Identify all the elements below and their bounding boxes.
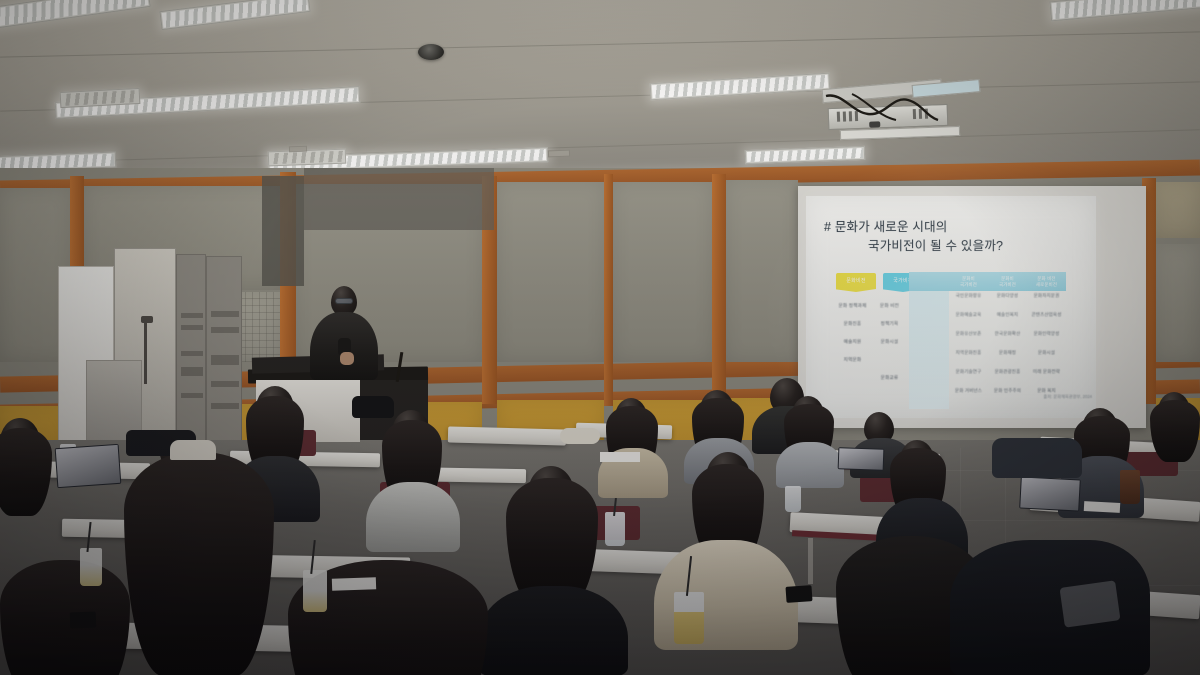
bag bbox=[352, 396, 394, 418]
presenter-glasses-icon bbox=[335, 298, 353, 304]
drink-cup bbox=[1120, 470, 1140, 504]
tab-yellow-label: 문화비전 bbox=[836, 273, 876, 284]
av-equipment-rack bbox=[176, 254, 206, 446]
wall-acoustic-panel bbox=[1156, 244, 1200, 362]
drink-cup bbox=[785, 486, 801, 512]
audience-body bbox=[950, 540, 1150, 675]
table-column-headers: 문화비 국가비전 문화비 국가비전 문화 비전 새로운비전 bbox=[949, 273, 1066, 290]
jacket-on-chair bbox=[992, 438, 1082, 478]
drink-cup bbox=[80, 548, 102, 586]
wall-acoustic-panel bbox=[726, 180, 798, 362]
wall-wood-mullion bbox=[712, 174, 726, 404]
table-row: 문화 정책과제 문화 비전 bbox=[834, 303, 908, 321]
audience-hair-foreground bbox=[124, 452, 274, 675]
lecture-hall-photo: # 문화가 새로운 시대의 국가비전이 될 수 있을까? 문화비전 국가비전 문… bbox=[0, 0, 1200, 675]
laptop[interactable] bbox=[1019, 476, 1081, 511]
audience-body bbox=[776, 442, 844, 488]
wall-wood-mullion bbox=[604, 174, 613, 406]
table-first-column-fill bbox=[909, 291, 949, 409]
drink-cup bbox=[674, 592, 704, 644]
presenter-hand bbox=[340, 352, 354, 365]
table-row: 문화유산보존 한국문화확산 문화인력양성 bbox=[949, 331, 1066, 350]
paper-sheet bbox=[1084, 501, 1120, 513]
ceiling-vent bbox=[548, 150, 570, 158]
table-column-header: 문화 비전 새로운비전 bbox=[1027, 273, 1066, 290]
table-right-columns: 국민문화향유 문화다양성 문화자치분권 문화예술교육 예술인복지 콘텐츠산업육성… bbox=[949, 293, 1066, 407]
wall-bulkhead bbox=[304, 168, 494, 230]
table-row: 문화기술연구 문화관광진흥 미래 문화전략 bbox=[949, 369, 1066, 388]
hat bbox=[560, 428, 600, 444]
slide-title: # 문화가 새로운 시대의 국가비전이 될 수 있을까? bbox=[824, 218, 1080, 257]
table-row: 문화교류 bbox=[834, 375, 908, 393]
smartphone[interactable] bbox=[70, 612, 97, 629]
laptop[interactable] bbox=[838, 447, 885, 471]
gooseneck-lamp-head bbox=[141, 316, 153, 323]
projection-screen: # 문화가 새로운 시대의 국가비전이 될 수 있을까? 문화비전 국가비전 문… bbox=[806, 196, 1096, 418]
hat bbox=[170, 440, 216, 460]
table-row: 문화예술교육 예술인복지 콘텐츠산업육성 bbox=[949, 312, 1066, 331]
paper-sheet bbox=[332, 577, 376, 591]
presentation-slide: # 문화가 새로운 시대의 국가비전이 될 수 있을까? 문화비전 국가비전 문… bbox=[806, 196, 1096, 418]
jacket-logo bbox=[1059, 580, 1120, 627]
gooseneck-lamp bbox=[144, 320, 147, 384]
wall-acoustic-panel bbox=[497, 182, 604, 362]
table-column-header: 문화비 국가비전 bbox=[988, 273, 1027, 290]
wall-column bbox=[262, 176, 304, 286]
projector-cable bbox=[822, 90, 952, 126]
table-row: 국민문화향유 문화다양성 문화자치분권 bbox=[949, 293, 1066, 312]
slide-title-line1: # 문화가 새로운 시대의 bbox=[824, 220, 947, 234]
laptop[interactable] bbox=[55, 444, 122, 488]
tab-yellow: 문화비전 bbox=[836, 273, 876, 292]
table-left-columns: 문화 정책과제 문화 비전 문화진흥 정책기획 예술지원 문화시설 지역문화 bbox=[834, 303, 908, 393]
audience-body bbox=[478, 586, 628, 675]
lecture-desk bbox=[448, 426, 566, 445]
ceiling-vent bbox=[289, 146, 307, 153]
ceiling-speaker-icon bbox=[418, 44, 444, 60]
ceiling-mounted-projector bbox=[812, 84, 982, 146]
slide-source-note: 출처: 문화체육관광부, 2024 bbox=[1043, 394, 1092, 400]
table-row: 지역문화진흥 문화재정 문화시설 bbox=[949, 350, 1066, 369]
table-column-header: 문화비 국가비전 bbox=[949, 273, 988, 290]
table-row: 지역문화 bbox=[834, 357, 908, 375]
paper-sheet bbox=[600, 452, 640, 462]
table-row: 예술지원 문화시설 bbox=[834, 339, 908, 357]
audience-body bbox=[366, 482, 460, 552]
audience-hair bbox=[1150, 400, 1200, 462]
wall-acoustic-panel bbox=[613, 182, 712, 362]
table-row: 문화진흥 정책기획 bbox=[834, 321, 908, 339]
av-equipment-rack bbox=[206, 256, 242, 446]
slide-title-line2: 국가비전이 될 수 있을까? bbox=[824, 237, 1080, 256]
smartphone[interactable] bbox=[785, 585, 812, 603]
audience-hair-foreground bbox=[0, 560, 130, 675]
wall-acoustic-panel bbox=[1156, 182, 1200, 238]
drink-cup bbox=[303, 570, 327, 612]
drink-cup bbox=[605, 512, 625, 546]
